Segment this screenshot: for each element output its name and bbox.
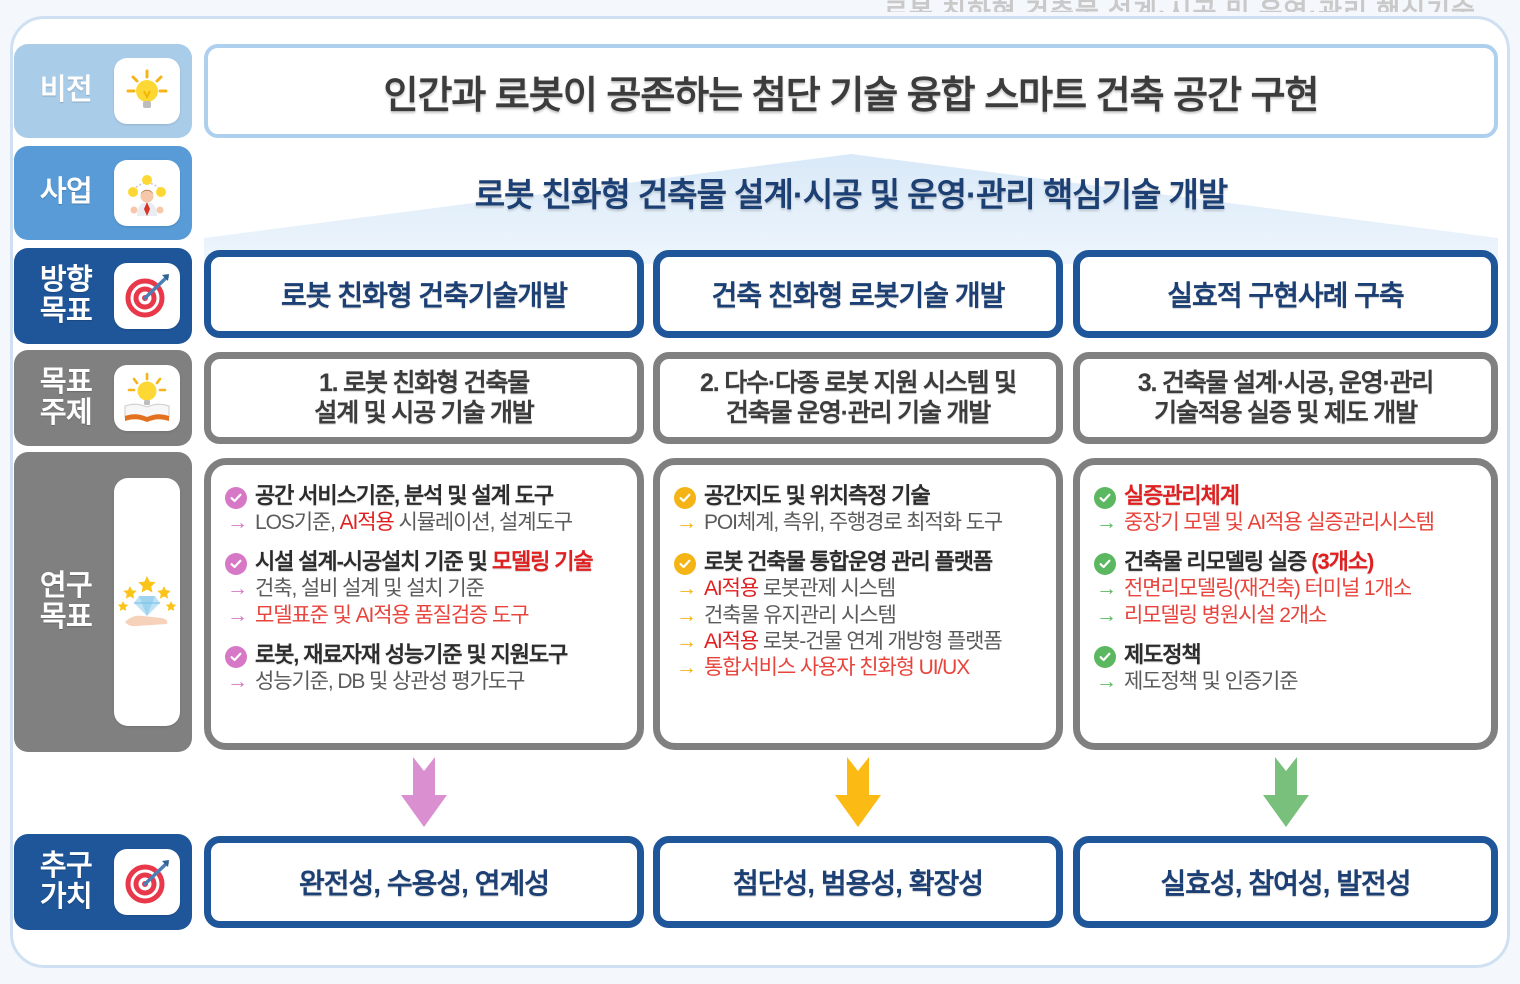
research-sub-item-text: POI체계, 측위, 주행경로 최적화 도구 bbox=[704, 510, 1002, 536]
research-group: 공간 서비스기준, 분석 및 설계 도구→LOS기준, AI적용 시뮬레이션, … bbox=[225, 483, 623, 536]
value-box-3: 실효성, 참여성, 발전성 bbox=[1073, 836, 1498, 928]
row-label-value: 추구 가치 bbox=[14, 834, 192, 930]
research-group-heading-text: 로봇 건축물 통합운영 관리 플랫폼 bbox=[704, 549, 992, 575]
arrow-right-icon: → bbox=[227, 576, 249, 602]
direction-text-1: 로봇 친화형 건축기술개발 bbox=[281, 274, 567, 314]
value-text-2: 첨단성, 범용성, 확장성 bbox=[733, 862, 983, 902]
research-sub-item-text: 건축, 설비 설계 및 설치 기준 bbox=[255, 576, 484, 602]
check-circle-icon bbox=[225, 553, 247, 575]
arrow-right-icon: → bbox=[1096, 669, 1118, 695]
target-dart-icon bbox=[114, 263, 180, 329]
row-label-business-text: 사업 bbox=[24, 177, 108, 208]
business-band: 로봇 친화형 건축물 설계·시공 및 운영·관리 핵심기술 개발 bbox=[204, 142, 1498, 242]
research-group: 실증관리체계→중장기 모델 및 AI적용 실증관리시스템 bbox=[1094, 483, 1477, 536]
arrow-right-icon: → bbox=[676, 629, 698, 655]
research-sub-item-text: 통합서비스 사용자 친화형 UI/UX bbox=[704, 655, 969, 681]
arrow-right-icon: → bbox=[676, 510, 698, 536]
arrow-right-icon: → bbox=[227, 603, 249, 629]
theme-box-1: 1. 로봇 친화형 건축물 설계 및 시공 기술 개발 bbox=[204, 352, 644, 444]
value-box-2: 첨단성, 범용성, 확장성 bbox=[653, 836, 1063, 928]
research-group: 로봇, 재료자재 성능기준 및 지원도구→성능기준, DB 및 상관성 평가도구 bbox=[225, 642, 623, 695]
arrow-right-icon: → bbox=[1096, 603, 1118, 629]
arrow-right-icon: → bbox=[676, 603, 698, 629]
research-group-heading-text: 공간지도 및 위치측정 기술 bbox=[704, 483, 930, 509]
research-group-heading: 공간지도 및 위치측정 기술 bbox=[674, 483, 1042, 509]
down-arrow-2 bbox=[823, 757, 893, 829]
research-group: 로봇 건축물 통합운영 관리 플랫폼→AI적용 로봇관제 시스템→건축물 유지관… bbox=[674, 549, 1042, 681]
target-dart-icon bbox=[114, 849, 180, 915]
top-cutoff-text: 로봇 친화형 건축물 설계·시공 및 운영·관리 핵심기술 개발 bbox=[884, 0, 1474, 12]
research-sub-item: →POI체계, 측위, 주행경로 최적화 도구 bbox=[676, 510, 1042, 536]
research-sub-item-text: 리모델링 병원시설 2개소 bbox=[1124, 603, 1326, 629]
arrow-right-icon: → bbox=[676, 655, 698, 681]
research-sub-item-text: AI적용 로봇관제 시스템 bbox=[704, 576, 895, 602]
direction-box-3: 실효적 구현사례 구축 bbox=[1073, 250, 1498, 338]
check-circle-icon bbox=[674, 487, 696, 509]
row-label-vision: 비전 bbox=[14, 44, 192, 138]
research-sub-item-text: AI적용 로봇-건물 연계 개방형 플랫폼 bbox=[704, 629, 1002, 655]
row-label-research-text: 연구 목표 bbox=[24, 571, 108, 634]
arrow-right-icon: → bbox=[1096, 510, 1118, 536]
research-group-heading-text: 로봇, 재료자재 성능기준 및 지원도구 bbox=[255, 642, 567, 668]
arrow-right-icon: → bbox=[676, 576, 698, 602]
research-group-heading: 로봇 건축물 통합운영 관리 플랫폼 bbox=[674, 549, 1042, 575]
theme-box-3: 3. 건축물 설계·시공, 운영·관리 기술적용 실증 및 제도 개발 bbox=[1073, 352, 1498, 444]
research-group: 시설 설계-시공설치 기준 및 모델링 기술→건축, 설비 설계 및 설치 기준… bbox=[225, 549, 623, 629]
down-arrow-3 bbox=[1251, 757, 1321, 829]
row-label-business: 사업 bbox=[14, 146, 192, 240]
theme-text-3: 3. 건축물 설계·시공, 운영·관리 기술적용 실증 및 제도 개발 bbox=[1138, 368, 1433, 429]
research-sub-item: →건축물 유지관리 시스템 bbox=[676, 603, 1042, 629]
theme-text-1: 1. 로봇 친화형 건축물 설계 및 시공 기술 개발 bbox=[314, 368, 533, 429]
check-circle-icon bbox=[1094, 646, 1116, 668]
row-label-vision-text: 비전 bbox=[24, 75, 108, 106]
row-label-research: 연구 목표 bbox=[14, 452, 192, 752]
research-sub-item-text: 건축물 유지관리 시스템 bbox=[704, 603, 896, 629]
check-circle-icon bbox=[225, 487, 247, 509]
value-box-1: 완전성, 수용성, 연계성 bbox=[204, 836, 644, 928]
direction-text-2: 건축 친화형 로봇기술 개발 bbox=[712, 274, 1005, 314]
theme-box-2: 2. 다수·다종 로봇 지원 시스템 및 건축물 운영·관리 기술 개발 bbox=[653, 352, 1063, 444]
value-text-3: 실효성, 참여성, 발전성 bbox=[1161, 862, 1411, 902]
check-circle-icon bbox=[1094, 487, 1116, 509]
check-circle-icon bbox=[225, 646, 247, 668]
roadmap-diagram: 로봇 친화형 건축물 설계·시공 및 운영·관리 핵심기술 개발 비전 사업 bbox=[0, 0, 1520, 984]
arrow-right-icon: → bbox=[227, 510, 249, 536]
research-sub-item-text: 전면리모델링(재건축) 터미널 1개소 bbox=[1124, 576, 1411, 602]
research-group: 건축물 리모델링 실증 (3개소)→전면리모델링(재건축) 터미널 1개소→리모… bbox=[1094, 549, 1477, 629]
research-group-heading-text: 제도정책 bbox=[1124, 642, 1201, 668]
research-sub-item: →모델표준 및 AI적용 품질검증 도구 bbox=[227, 603, 623, 629]
value-text-1: 완전성, 수용성, 연계성 bbox=[299, 862, 549, 902]
research-group-heading: 제도정책 bbox=[1094, 642, 1477, 668]
research-sub-item: →AI적용 로봇-건물 연계 개방형 플랫폼 bbox=[676, 629, 1042, 655]
down-arrow-1 bbox=[389, 757, 459, 829]
arrow-right-icon: → bbox=[227, 669, 249, 695]
direction-text-3: 실효적 구현사례 구축 bbox=[1167, 274, 1403, 314]
vision-box: 인간과 로봇이 공존하는 첨단 기술 융합 스마트 건축 공간 구현 bbox=[204, 44, 1498, 138]
research-sub-item: →리모델링 병원시설 2개소 bbox=[1096, 603, 1477, 629]
research-group-heading: 시설 설계-시공설치 기준 및 모델링 기술 bbox=[225, 549, 623, 575]
row-label-theme: 목표 주제 bbox=[14, 350, 192, 446]
research-group-heading-text: 건축물 리모델링 실증 (3개소) bbox=[1124, 549, 1373, 575]
lightbulb-icon bbox=[114, 58, 180, 124]
check-circle-icon bbox=[1094, 553, 1116, 575]
research-group-heading: 공간 서비스기준, 분석 및 설계 도구 bbox=[225, 483, 623, 509]
direction-box-2: 건축 친화형 로봇기술 개발 bbox=[653, 250, 1063, 338]
research-sub-item-text: 성능기준, DB 및 상관성 평가도구 bbox=[255, 669, 524, 695]
vision-text: 인간과 로봇이 공존하는 첨단 기술 융합 스마트 건축 공간 구현 bbox=[383, 64, 1318, 119]
lightbulb-book-icon bbox=[114, 365, 180, 431]
row-label-value-text: 추구 가치 bbox=[24, 851, 108, 914]
research-group: 공간지도 및 위치측정 기술→POI체계, 측위, 주행경로 최적화 도구 bbox=[674, 483, 1042, 536]
idea-person-icon bbox=[114, 160, 180, 226]
research-sub-item: →AI적용 로봇관제 시스템 bbox=[676, 576, 1042, 602]
arrow-right-icon: → bbox=[1096, 576, 1118, 602]
research-box-2: 공간지도 및 위치측정 기술→POI체계, 측위, 주행경로 최적화 도구로봇 … bbox=[653, 458, 1063, 750]
research-group: 제도정책→제도정책 및 인증기준 bbox=[1094, 642, 1477, 695]
research-sub-item: →성능기준, DB 및 상관성 평가도구 bbox=[227, 669, 623, 695]
row-label-direction-text: 방향 목표 bbox=[24, 265, 108, 328]
research-sub-item: →건축, 설비 설계 및 설치 기준 bbox=[227, 576, 623, 602]
row-label-theme-text: 목표 주제 bbox=[24, 367, 108, 430]
research-box-3: 실증관리체계→중장기 모델 및 AI적용 실증관리시스템건축물 리모델링 실증 … bbox=[1073, 458, 1498, 750]
research-sub-item: →통합서비스 사용자 친화형 UI/UX bbox=[676, 655, 1042, 681]
research-sub-item: →중장기 모델 및 AI적용 실증관리시스템 bbox=[1096, 510, 1477, 536]
research-group-heading: 건축물 리모델링 실증 (3개소) bbox=[1094, 549, 1477, 575]
business-text: 로봇 친화형 건축물 설계·시공 및 운영·관리 핵심기술 개발 bbox=[475, 168, 1227, 216]
research-box-1: 공간 서비스기준, 분석 및 설계 도구→LOS기준, AI적용 시뮬레이션, … bbox=[204, 458, 644, 750]
research-sub-item-text: 중장기 모델 및 AI적용 실증관리시스템 bbox=[1124, 510, 1434, 536]
research-group-heading-text: 공간 서비스기준, 분석 및 설계 도구 bbox=[255, 483, 553, 509]
direction-box-1: 로봇 친화형 건축기술개발 bbox=[204, 250, 644, 338]
research-sub-item: →전면리모델링(재건축) 터미널 1개소 bbox=[1096, 576, 1477, 602]
row-label-direction: 방향 목표 bbox=[14, 248, 192, 344]
research-sub-item-text: 제도정책 및 인증기준 bbox=[1124, 669, 1297, 695]
research-group-heading: 로봇, 재료자재 성능기준 및 지원도구 bbox=[225, 642, 623, 668]
research-sub-item-text: LOS기준, AI적용 시뮬레이션, 설계도구 bbox=[255, 510, 572, 536]
theme-text-2: 2. 다수·다종 로봇 지원 시스템 및 건축물 운영·관리 기술 개발 bbox=[700, 368, 1016, 429]
check-circle-icon bbox=[674, 553, 696, 575]
research-sub-item: →LOS기준, AI적용 시뮬레이션, 설계도구 bbox=[227, 510, 623, 536]
research-sub-item-text: 모델표준 및 AI적용 품질검증 도구 bbox=[255, 603, 528, 629]
research-sub-item: →제도정책 및 인증기준 bbox=[1096, 669, 1477, 695]
research-group-heading: 실증관리체계 bbox=[1094, 483, 1477, 509]
research-group-heading-text: 시설 설계-시공설치 기준 및 모델링 기술 bbox=[255, 549, 593, 575]
diamond-hand-icon bbox=[114, 478, 180, 726]
research-group-heading-text: 실증관리체계 bbox=[1124, 483, 1239, 509]
